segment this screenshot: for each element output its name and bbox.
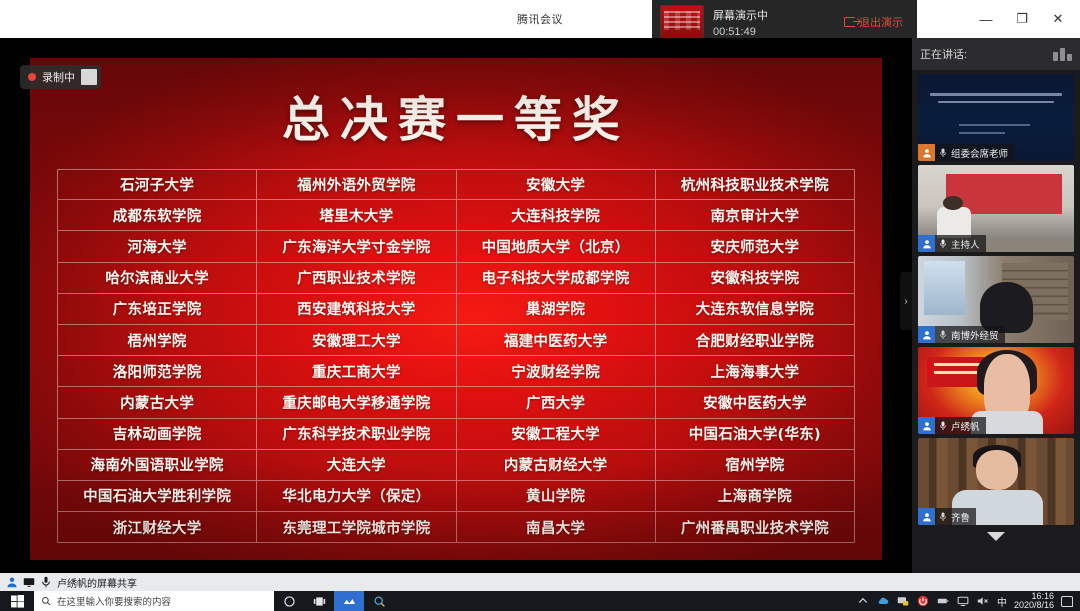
table-cell: 中国石油大学(华东) [656, 419, 855, 450]
participant-label: 主持人 [918, 235, 986, 252]
table-row: 石河子大学福州外语外贸学院安徽大学杭州科技职业技术学院 [57, 169, 855, 200]
participant-label: 组委会席老师 [918, 144, 1014, 161]
window-controls: — ❐ ✕ [968, 0, 1076, 38]
table-row: 内蒙古大学重庆邮电大学移通学院广西大学安徽中医药大学 [57, 387, 855, 418]
slide-title: 总决赛一等奖 [30, 80, 882, 150]
table-cell: 重庆工商大学 [257, 356, 456, 387]
search-input[interactable]: 在这里输入你要搜索的内容 [34, 591, 274, 611]
table-cell: 合肥财经职业学院 [656, 325, 855, 356]
table-cell: 南昌大学 [457, 512, 656, 543]
video-tile[interactable]: 南博外经贸 [918, 256, 1074, 343]
microphone-icon [935, 330, 950, 340]
speaking-label: 正在讲话: [920, 46, 967, 62]
table-cell: 海南外国语职业学院 [57, 450, 257, 481]
table-cell: 安徽中医药大学 [656, 387, 855, 418]
table-cell: 杭州科技职业技术学院 [656, 169, 855, 200]
participant-label: 卢绣帆 [918, 417, 986, 434]
table-cell: 成都东软学院 [57, 200, 257, 231]
shared-screen-stage: 总决赛一等奖 石河子大学福州外语外贸学院安徽大学杭州科技职业技术学院成都东软学院… [0, 38, 912, 573]
video-tile[interactable]: 齐鲁 [918, 438, 1074, 525]
security-icon[interactable] [917, 595, 930, 608]
avatar-icon [918, 417, 935, 434]
recording-dot-icon [28, 73, 36, 81]
table-cell: 大连大学 [257, 450, 456, 481]
table-cell: 上海海事大学 [656, 356, 855, 387]
table-row: 广东培正学院西安建筑科技大学巢湖学院大连东软信息学院 [57, 294, 855, 325]
taskbar-app-icon[interactable] [334, 591, 364, 611]
battery-icon[interactable] [937, 595, 950, 608]
table-cell: 哈尔滨商业大学 [57, 263, 257, 294]
app-title: 腾讯会议 [517, 11, 563, 27]
system-tray: 中 16:16 2020/8/16 [857, 592, 1080, 611]
table-cell: 上海商学院 [656, 481, 855, 512]
window-titlebar: 腾讯会议 [0, 0, 1080, 38]
presentation-status-text: 屏幕演示中 [713, 7, 768, 23]
award-list-table: 石河子大学福州外语外贸学院安徽大学杭州科技职业技术学院成都东软学院塔里木大学大连… [57, 169, 855, 543]
video-tiles: 组委会席老师 主持人 [912, 70, 1080, 541]
participant-label: 南博外经贸 [918, 326, 1005, 343]
participant-name: 主持人 [950, 237, 986, 251]
clock-date: 2020/8/16 [1014, 601, 1054, 610]
table-cell: 广东科学技术职业学院 [257, 419, 456, 450]
table-cell: 中国石油大学胜利学院 [57, 481, 257, 512]
input-language-indicator[interactable]: 中 [997, 594, 1007, 609]
table-cell: 安徽工程大学 [457, 419, 656, 450]
table-cell: 巢湖学院 [457, 294, 656, 325]
microphone-muted-icon [935, 239, 950, 249]
cortana-icon[interactable] [274, 591, 304, 611]
table-row: 哈尔滨商业大学广西职业技术学院电子科技大学成都学院安徽科技学院 [57, 263, 855, 294]
presentation-texts: 屏幕演示中 00:51:49 [713, 7, 768, 38]
close-button[interactable]: ✕ [1040, 4, 1076, 34]
maximize-button[interactable]: ❐ [1004, 4, 1040, 34]
screen-icon [23, 576, 35, 588]
chevron-up-icon[interactable] [857, 595, 870, 608]
table-cell: 梧州学院 [57, 325, 257, 356]
table-cell: 安庆师范大学 [656, 231, 855, 262]
network-icon[interactable] [897, 595, 910, 608]
user-icon [6, 576, 18, 588]
table-cell: 浙江财经大学 [57, 512, 257, 543]
table-cell: 华北电力大学（保定） [257, 481, 456, 512]
table-cell: 内蒙古大学 [57, 387, 257, 418]
avatar-icon [918, 235, 935, 252]
scroll-down-icon[interactable] [987, 532, 1005, 541]
minimize-button[interactable]: — [968, 4, 1004, 34]
avatar-icon [918, 508, 935, 525]
participants-sidebar: 正在讲话: 组委会席老师 [912, 38, 1080, 573]
exit-icon [844, 17, 855, 27]
table-cell: 石河子大学 [57, 169, 257, 200]
table-cell: 福建中医药大学 [457, 325, 656, 356]
table-cell: 福州外语外贸学院 [257, 169, 456, 200]
table-cell: 宿州学院 [656, 450, 855, 481]
meeting-window: 腾讯会议 屏幕演示中 00:51:49 退出演示 — ❐ ✕ 总决赛一等奖 石河… [0, 0, 1080, 611]
search-app-icon[interactable] [364, 591, 394, 611]
microphone-muted-icon [935, 421, 950, 431]
table-row: 浙江财经大学东莞理工学院城市学院南昌大学广州番禺职业技术学院 [57, 512, 855, 543]
table-cell: 安徽大学 [457, 169, 656, 200]
task-view-icon[interactable] [304, 591, 334, 611]
table-cell: 大连科技学院 [457, 200, 656, 231]
microphone-icon [935, 148, 950, 158]
table-cell: 广州番禺职业技术学院 [656, 512, 855, 543]
volume-muted-icon[interactable] [977, 595, 990, 608]
table-cell: 洛阳师范学院 [57, 356, 257, 387]
table-cell: 河海大学 [57, 231, 257, 262]
table-row: 海南外国语职业学院大连大学内蒙古财经大学宿州学院 [57, 450, 855, 481]
video-tile[interactable]: 组委会席老师 [918, 74, 1074, 161]
participant-name: 南博外经贸 [950, 328, 1005, 342]
clock[interactable]: 16:16 2020/8/16 [1014, 592, 1054, 611]
share-bar-label: 卢绣帆的屏幕共享 [57, 575, 137, 590]
search-icon [41, 596, 51, 606]
participant-label: 齐鲁 [918, 508, 976, 525]
table-row: 梧州学院安徽理工大学福建中医药大学合肥财经职业学院 [57, 325, 855, 356]
participant-name: 卢绣帆 [950, 419, 986, 433]
table-cell: 大连东软信息学院 [656, 294, 855, 325]
table-cell: 西安建筑科技大学 [257, 294, 456, 325]
participant-name: 组委会席老师 [950, 146, 1014, 160]
audio-wave-icon [1053, 47, 1072, 61]
table-row: 成都东软学院塔里木大学大连科技学院南京审计大学 [57, 200, 855, 231]
collapse-sidebar-handle[interactable]: › [900, 272, 912, 330]
table-row: 吉林动画学院广东科学技术职业学院安徽工程大学中国石油大学(华东) [57, 419, 855, 450]
table-cell: 塔里木大学 [257, 200, 456, 231]
exit-presentation-label: 退出演示 [859, 14, 903, 30]
avatar-icon [918, 326, 935, 343]
screen-share-bar: 卢绣帆的屏幕共享 [0, 573, 1080, 591]
exit-presentation-button[interactable]: 退出演示 [844, 14, 909, 30]
table-cell: 内蒙古财经大学 [457, 450, 656, 481]
video-tile[interactable]: 卢绣帆 [918, 347, 1074, 434]
table-row: 洛阳师范学院重庆工商大学宁波财经学院上海海事大学 [57, 356, 855, 387]
speaking-bar: 正在讲话: [912, 38, 1080, 70]
table-cell: 重庆邮电大学移通学院 [257, 387, 456, 418]
table-cell: 安徽理工大学 [257, 325, 456, 356]
onedrive-icon[interactable] [877, 595, 890, 608]
table-cell: 电子科技大学成都学院 [457, 263, 656, 294]
presentation-timer: 00:51:49 [713, 26, 768, 38]
table-cell: 广东培正学院 [57, 294, 257, 325]
recording-label: 录制中 [42, 69, 75, 85]
microphone-icon [935, 512, 950, 522]
display-icon[interactable] [957, 595, 970, 608]
table-cell: 吉林动画学院 [57, 419, 257, 450]
table-cell: 宁波财经学院 [457, 356, 656, 387]
windows-taskbar: 在这里输入你要搜索的内容 [0, 591, 1080, 611]
table-row: 中国石油大学胜利学院华北电力大学（保定）黄山学院上海商学院 [57, 481, 855, 512]
table-cell: 黄山学院 [457, 481, 656, 512]
presentation-slide: 总决赛一等奖 石河子大学福州外语外贸学院安徽大学杭州科技职业技术学院成都东软学院… [30, 58, 882, 560]
stop-recording-button[interactable] [81, 69, 97, 85]
start-button[interactable] [0, 591, 34, 611]
table-cell: 中国地质大学（北京） [457, 231, 656, 262]
participant-name: 齐鲁 [950, 510, 976, 524]
table-cell: 东莞理工学院城市学院 [257, 512, 456, 543]
microphone-icon [40, 576, 52, 588]
avatar-icon [918, 144, 935, 161]
table-cell: 南京审计大学 [656, 200, 855, 231]
presentation-thumbnail [660, 5, 704, 39]
table-cell: 广东海洋大学寸金学院 [257, 231, 456, 262]
recording-indicator: 录制中 [20, 65, 101, 89]
table-row: 河海大学广东海洋大学寸金学院中国地质大学（北京）安庆师范大学 [57, 231, 855, 262]
table-cell: 广西职业技术学院 [257, 263, 456, 294]
notifications-icon[interactable] [1061, 596, 1073, 607]
table-cell: 广西大学 [457, 387, 656, 418]
video-tile[interactable]: 主持人 [918, 165, 1074, 252]
search-placeholder: 在这里输入你要搜索的内容 [57, 594, 171, 608]
table-cell: 安徽科技学院 [656, 263, 855, 294]
